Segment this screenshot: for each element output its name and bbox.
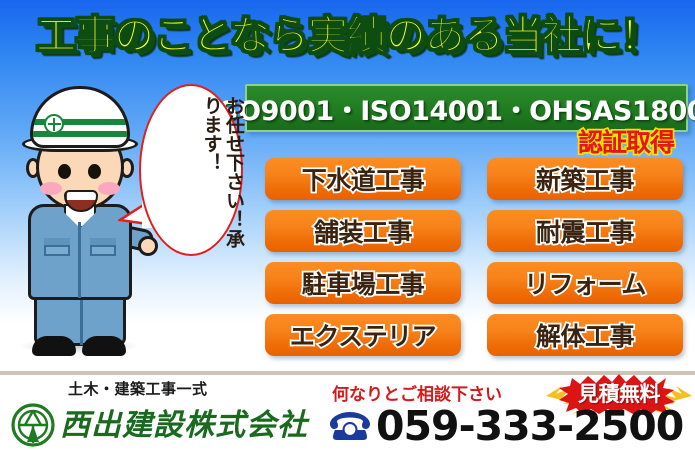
service-button-label: 新築工事 <box>536 161 634 197</box>
service-button-earthquake-resistance[interactable]: 耐震工事 <box>487 210 683 252</box>
consultation-text: 何なりとご相談下さい <box>332 380 562 404</box>
iso-certification-box: ISO9001・ISO14001・OHSAS18001 <box>245 84 688 132</box>
service-button-exterior[interactable]: エクステリア <box>265 314 461 356</box>
worker-eye-left <box>58 164 71 179</box>
free-estimate-label: 見積無料 <box>546 378 692 410</box>
worker-pocket-left <box>44 238 70 256</box>
service-button-paving[interactable]: 舗装工事 <box>265 210 461 252</box>
service-button-label: エクステリア <box>290 317 436 353</box>
certification-acquired-badge: 認証取得 <box>565 128 687 158</box>
service-button-label: 舗装工事 <box>314 213 412 249</box>
service-button-label: 駐車場工事 <box>302 265 425 301</box>
helmet-company-emblem-icon <box>44 114 64 134</box>
service-button-sewer[interactable]: 下水道工事 <box>265 158 461 200</box>
service-button-demolition[interactable]: 解体工事 <box>487 314 683 356</box>
service-button-new-construction[interactable]: 新築工事 <box>487 158 683 200</box>
speech-bubble: お任せ下さい！承ります！ <box>139 84 243 256</box>
company-logo-icon <box>10 402 56 448</box>
company-tagline: 土木・建築工事一式 <box>68 378 298 400</box>
worker-pocket-right <box>90 238 116 256</box>
company-name: 西出建設株式会社 <box>60 400 310 446</box>
phone-number: 059-333-2500 <box>376 404 695 448</box>
worker-uniform-placket <box>78 222 81 298</box>
iso-certification-text: ISO9001・ISO14001・OHSAS18001 <box>210 89 695 128</box>
worker-cheek-left <box>40 182 62 195</box>
helmet-stripe-lower <box>30 131 130 137</box>
worker-shoe-right <box>82 336 126 356</box>
page-title: 工事のことなら実績のある当社に！ <box>0 4 695 68</box>
worker-eye-right <box>88 164 101 179</box>
service-button-label: 解体工事 <box>536 317 634 353</box>
service-button-reform[interactable]: リフォーム <box>487 262 683 304</box>
worker-shoe-left <box>32 336 76 356</box>
service-button-label: リフォーム <box>524 265 646 301</box>
worker-cheek-right <box>98 182 120 195</box>
service-button-parking[interactable]: 駐車場工事 <box>265 262 461 304</box>
telephone-icon <box>328 410 372 442</box>
advertisement-banner: 工事のことなら実績のある当社に！ お任せ下さい！承ります！ <box>0 0 695 450</box>
service-button-label: 耐震工事 <box>536 213 634 249</box>
speech-bubble-text: お任せ下さい！承ります！ <box>141 96 245 248</box>
service-button-label: 下水道工事 <box>302 161 425 197</box>
